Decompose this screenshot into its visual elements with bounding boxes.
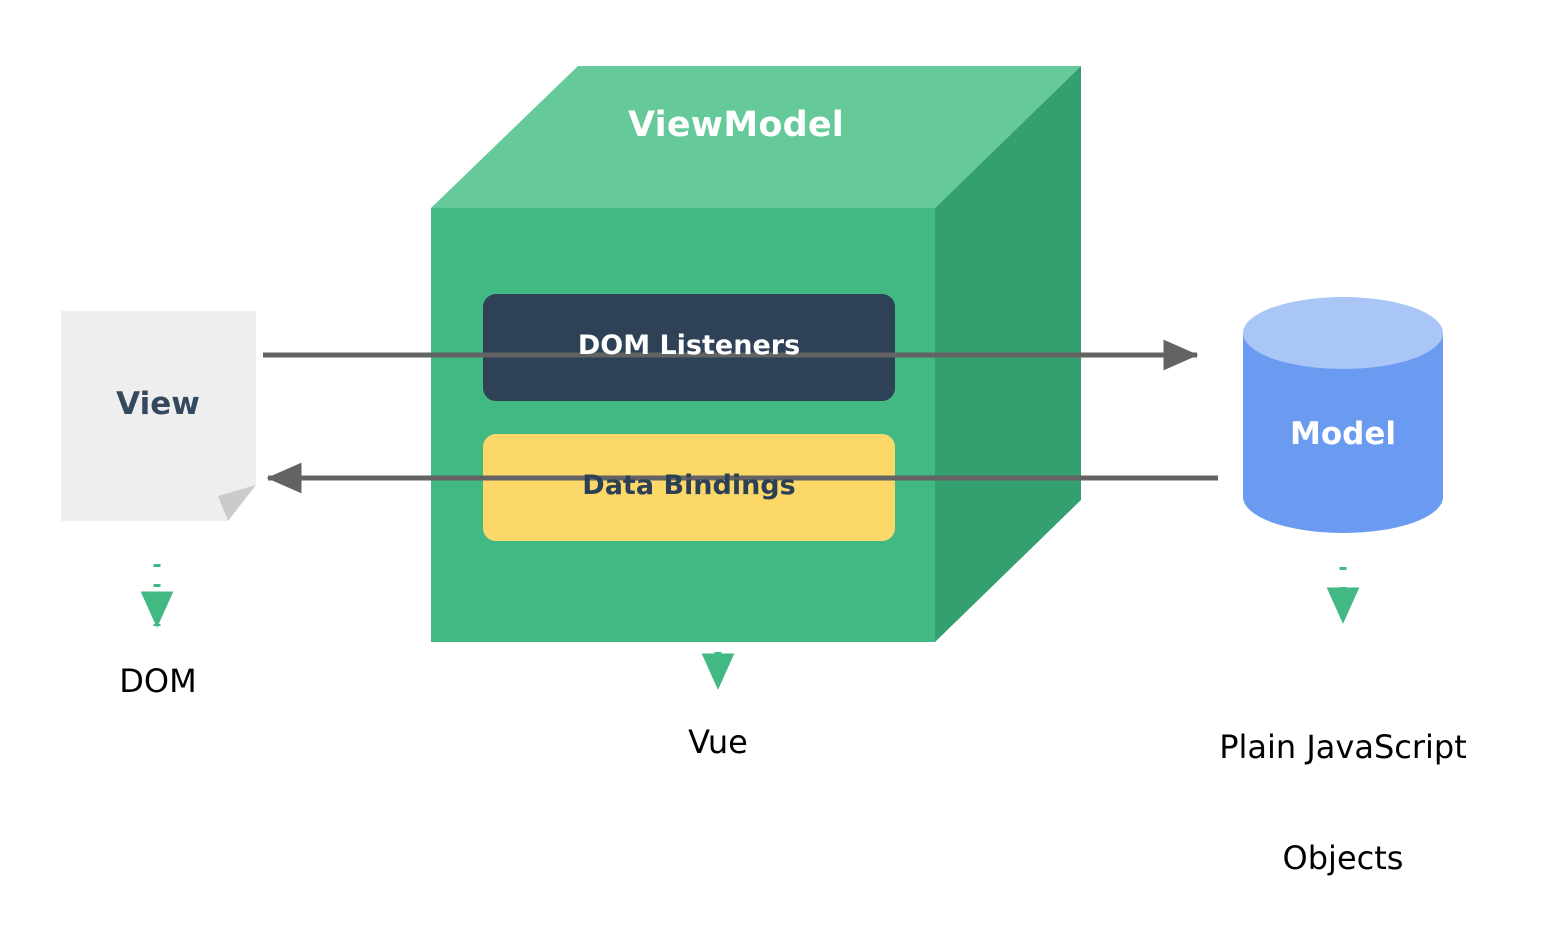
diagram-svg	[0, 0, 1554, 795]
panel-data-bindings[interactable]	[483, 434, 895, 541]
panel-dom-listeners[interactable]	[483, 294, 895, 401]
node-view[interactable]	[61, 311, 256, 521]
annotation-plain-js-objects-line2: Objects	[1193, 840, 1493, 877]
node-model[interactable]	[1243, 297, 1443, 533]
viewmodel-box-front-face	[431, 208, 935, 642]
view-page-shape	[61, 311, 256, 521]
model-cylinder-top	[1243, 297, 1443, 369]
diagram-canvas: ViewModel View Model DOM Listeners Data …	[0, 0, 1554, 795]
